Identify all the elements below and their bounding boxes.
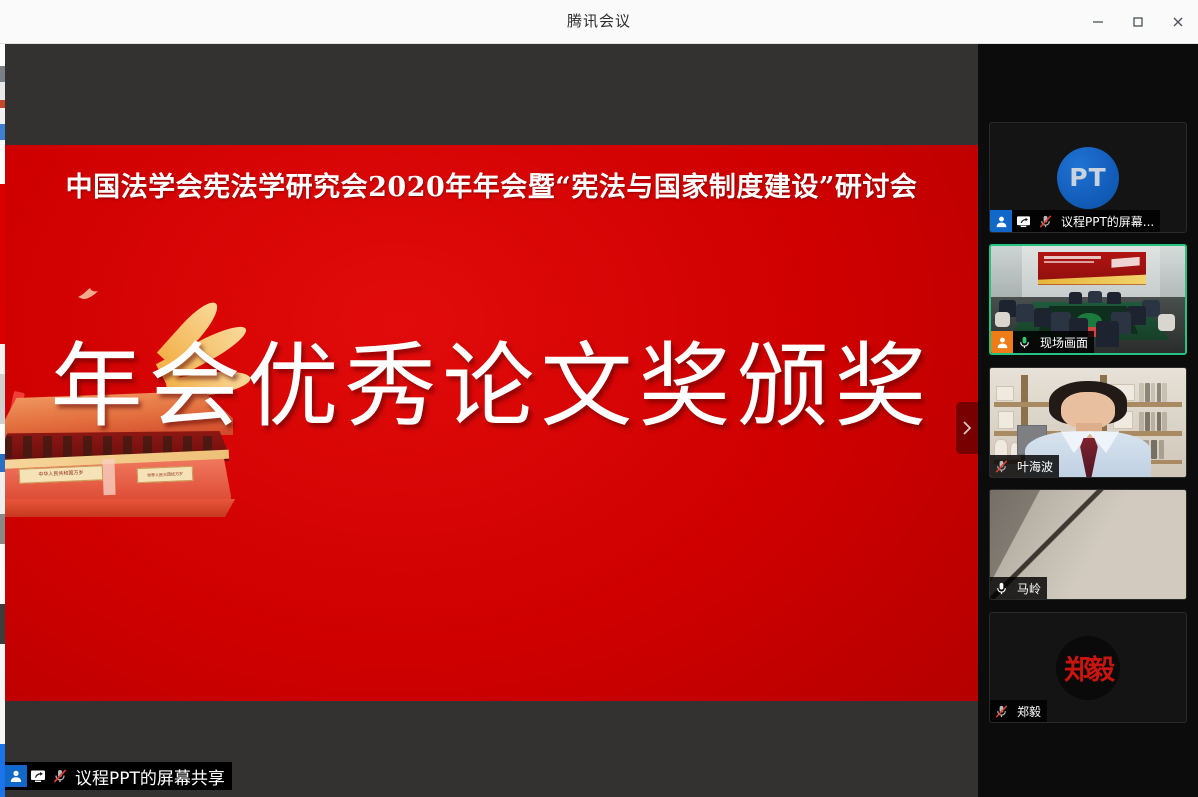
slide-header-text: 中国法学会宪法学研究会2020年年会暨“宪法与国家制度建设”研讨会: [5, 145, 978, 204]
window-title-bar: 腾讯会议: [0, 0, 1198, 44]
share-attribution-overlay: 议程PPT的屏幕共享: [5, 762, 232, 790]
participant-name: 马岭: [1017, 580, 1041, 597]
seal-avatar: 郑毅: [1056, 636, 1120, 700]
share-attribution-text: 议程PPT的屏幕共享: [75, 764, 225, 789]
gate-plaque-side: 世界人民大团结万岁: [137, 466, 194, 483]
person-icon: [990, 210, 1012, 232]
maximize-button[interactable]: [1118, 0, 1158, 43]
participant-name: 现场画面: [1040, 334, 1088, 351]
participant-tile-ma-ling[interactable]: 马岭: [989, 489, 1187, 600]
tile-status-bar: 现场画面: [991, 331, 1094, 353]
participant-tile-ye-haibo[interactable]: 叶海波: [989, 367, 1187, 478]
microphone-muted-icon: [1034, 210, 1056, 232]
person-icon: [5, 765, 27, 787]
participant-tile-ppt-share[interactable]: PT: [989, 122, 1187, 233]
collapse-panel-chevron-right-icon[interactable]: [956, 402, 978, 454]
tile-status-bar: 马岭: [990, 577, 1047, 599]
microphone-active-icon: [1013, 331, 1035, 353]
participant-name: 议程PPT的屏幕...: [1061, 213, 1154, 230]
tile-status-bar: 叶海波: [990, 455, 1059, 477]
participant-name: 郑毅: [1017, 703, 1041, 720]
tile-status-bar: 郑毅: [990, 700, 1047, 722]
window-controls: [1078, 0, 1198, 43]
microphone-muted-icon: [990, 700, 1012, 722]
close-button[interactable]: [1158, 0, 1198, 43]
tile-status-bar: 议程PPT的屏幕...: [990, 210, 1160, 232]
minimize-button[interactable]: [1078, 0, 1118, 43]
participant-name: 叶海波: [1017, 458, 1053, 475]
tencent-meeting-window: 腾讯会议: [0, 0, 1198, 797]
avatar: PT: [1057, 147, 1119, 209]
shared-screen-stage[interactable]: 中华人民共和国万岁 世界人民大团结万岁 中国法学会宪法学研究会2020年年会暨“…: [0, 44, 978, 797]
slide-title-text: 年会优秀论文奖颁奖: [5, 341, 978, 433]
dove-icon: [77, 285, 99, 299]
microphone-unmuted-icon: [990, 577, 1012, 599]
window-title: 腾讯会议: [0, 0, 1198, 43]
screen-share-icon: [27, 765, 49, 787]
participant-tile-live-room[interactable]: 现场画面: [989, 244, 1187, 355]
microphone-muted-icon: [990, 455, 1012, 477]
screen-share-icon: [1012, 210, 1034, 232]
person-icon: [991, 331, 1013, 353]
microphone-muted-icon: [49, 765, 71, 787]
participant-rail: PT: [978, 44, 1198, 797]
presentation-slide: 中华人民共和国万岁 世界人民大团结万岁 中国法学会宪法学研究会2020年年会暨“…: [5, 145, 978, 701]
participant-tile-zheng-yi[interactable]: 郑毅 郑毅: [989, 612, 1187, 723]
